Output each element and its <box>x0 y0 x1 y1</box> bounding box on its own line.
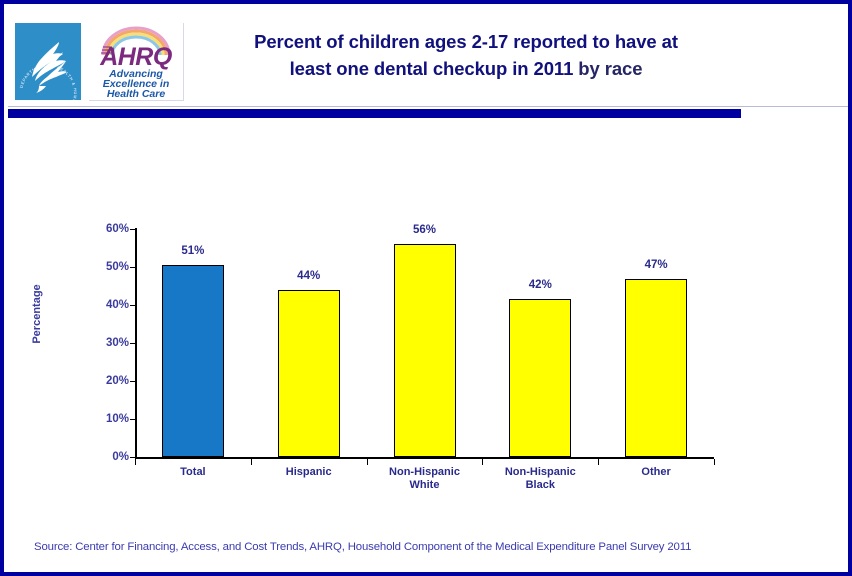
title-line-1: Percent of children ages 2-17 reported t… <box>254 31 678 52</box>
x-tick-mark <box>251 459 252 465</box>
x-tick-mark <box>714 459 715 465</box>
y-axis-tick-labels: 0%10%20%30%40%50%60% <box>89 118 129 518</box>
slide-canvas: DEPARTMENT OF HEALTH & HUMAN SERVICES · … <box>0 0 852 576</box>
y-tick-mark <box>130 229 136 230</box>
title-line-2-sub: by race <box>573 58 642 79</box>
bar-value-label: 42% <box>500 279 580 291</box>
y-tick-label: 60% <box>85 223 129 235</box>
title-line-2-main: least one dental checkup in 2011 <box>290 58 574 79</box>
x-category-line: Non-Hispanic <box>389 466 460 478</box>
page-title: Percent of children ages 2-17 reported t… <box>196 28 736 82</box>
bar-non-hispanic-black[interactable] <box>509 299 571 457</box>
y-tick-mark <box>130 267 136 268</box>
y-tick-label: 50% <box>85 261 129 273</box>
x-category-label: Non-HispanicBlack <box>480 466 600 492</box>
x-tick-mark <box>598 459 599 465</box>
agency-logo-group: DEPARTMENT OF HEALTH & HUMAN SERVICES · … <box>15 23 183 100</box>
x-category-label: Non-HispanicWhite <box>365 466 485 492</box>
x-category-label: Other <box>596 466 716 479</box>
x-tick-mark <box>482 459 483 465</box>
header-divider-bar <box>8 109 741 118</box>
svg-text:Health Care: Health Care <box>107 88 166 100</box>
bar-non-hispanic-white[interactable] <box>394 244 456 457</box>
bar-total[interactable] <box>162 265 224 457</box>
bar-chart: Percentage 0%10%20%30%40%50%60% 51%44%56… <box>4 118 848 518</box>
bar-other[interactable] <box>625 279 687 457</box>
y-tick-label: 40% <box>85 299 129 311</box>
x-category-line: Black <box>526 479 555 491</box>
y-tick-label: 10% <box>85 413 129 425</box>
x-category-line: Non-Hispanic <box>505 466 576 478</box>
y-tick-mark <box>130 343 136 344</box>
x-category-label: Hispanic <box>249 466 369 479</box>
bar-hispanic[interactable] <box>278 290 340 457</box>
ahrq-logo: AHRQ Advancing Excellence in Health Care <box>89 23 184 101</box>
y-tick-label: 30% <box>85 337 129 349</box>
bar-value-label: 47% <box>616 259 696 271</box>
x-axis-line <box>135 457 714 459</box>
y-tick-mark <box>130 419 136 420</box>
y-tick-mark <box>130 305 136 306</box>
x-category-line: Other <box>641 466 670 478</box>
bar-value-label: 51% <box>153 245 233 257</box>
x-category-label: Total <box>133 466 253 479</box>
y-tick-mark <box>130 457 136 458</box>
source-note: Source: Center for Financing, Access, an… <box>34 541 691 553</box>
hhs-seal-icon: DEPARTMENT OF HEALTH & HUMAN SERVICES · … <box>15 23 81 100</box>
y-axis-title: Percentage <box>31 254 43 374</box>
x-category-line: White <box>410 479 440 491</box>
x-category-line: Hispanic <box>286 466 332 478</box>
x-category-line: Total <box>180 466 205 478</box>
y-tick-label: 0% <box>85 451 129 463</box>
x-tick-mark <box>367 459 368 465</box>
y-tick-mark <box>130 381 136 382</box>
bar-value-label: 56% <box>385 224 465 236</box>
x-tick-mark <box>135 459 136 465</box>
y-tick-label: 20% <box>85 375 129 387</box>
bar-value-label: 44% <box>269 270 349 282</box>
